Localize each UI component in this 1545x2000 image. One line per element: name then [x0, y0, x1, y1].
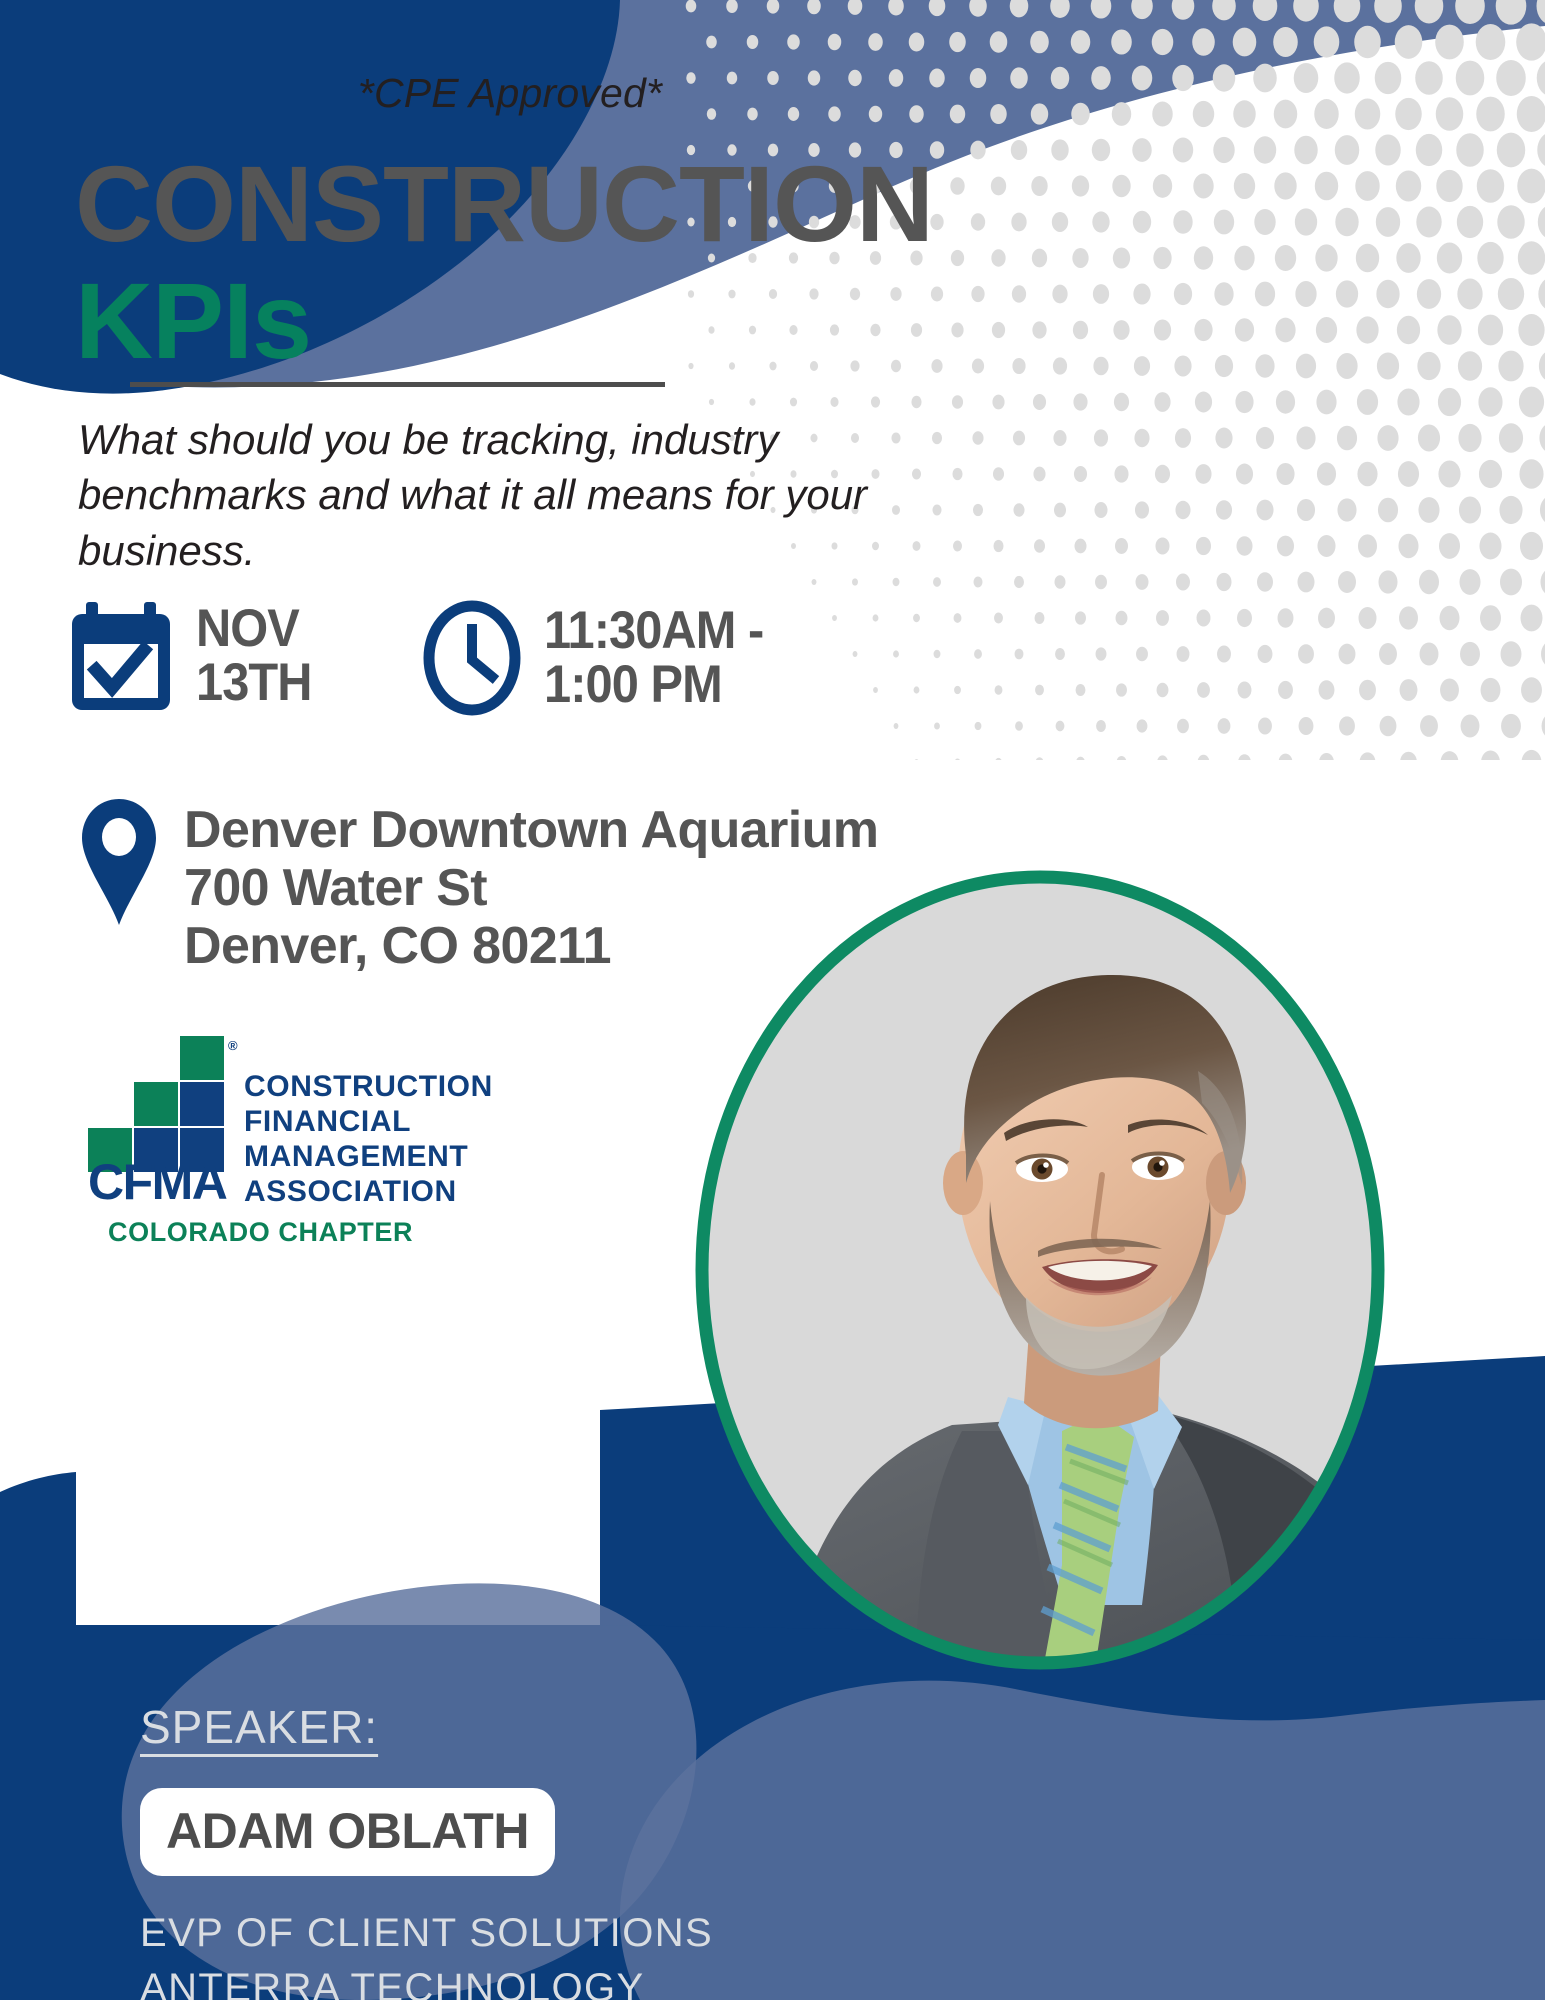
cfma-acronym: CFMA — [88, 1153, 226, 1211]
speaker-portrait — [690, 865, 1390, 1675]
cfma-name-lines: CONSTRUCTION FINANCIAL MANAGEMENT ASSOCI… — [244, 1069, 493, 1211]
speaker-label: SPEAKER: — [140, 1700, 760, 1754]
map-pin-icon — [78, 795, 160, 931]
logo-square-green-mid — [134, 1082, 178, 1126]
cfma-line-financial: FINANCIAL — [244, 1104, 493, 1139]
eye-left — [1016, 1156, 1068, 1183]
headline-block: CONSTRUCTION KPIs — [75, 150, 1075, 377]
cfma-line-management: MANAGEMENT — [244, 1139, 493, 1174]
cfma-line-association: ASSOCIATION — [244, 1174, 493, 1209]
clock-icon — [422, 600, 522, 716]
cfma-logo-panel: ® CFMA CONSTRUCTION FINANCIAL MANAGEMENT… — [60, 1012, 580, 1272]
date-time-row: NOV 13TH 11:30AM - 1:00 PM — [70, 600, 782, 716]
cfma-logo: ® CFMA CONSTRUCTION FINANCIAL MANAGEMENT… — [60, 1036, 493, 1211]
time-item: 11:30AM - 1:00 PM — [422, 600, 782, 716]
event-flyer: *CPE Approved* CONSTRUCTION KPIs What sh… — [0, 0, 1545, 2000]
cpe-approved-note: *CPE Approved* — [0, 70, 1020, 117]
title-divider — [130, 382, 665, 387]
cfma-staircase-mark: ® CFMA — [88, 1036, 230, 1211]
time-text: 11:30AM - 1:00 PM — [544, 604, 763, 712]
registered-trademark-symbol: ® — [228, 1038, 238, 1053]
page-title-line-1: CONSTRUCTION — [75, 150, 1075, 258]
speaker-block: SPEAKER: ADAM OBLATH EVP OF CLIENT SOLUT… — [140, 1700, 760, 2000]
speaker-name-pill: ADAM OBLATH — [140, 1788, 555, 1876]
calendar-check-icon — [70, 600, 174, 712]
eye-right — [1132, 1154, 1184, 1181]
speaker-name: ADAM OBLATH — [166, 1806, 529, 1856]
page-title-line-2: KPIs — [75, 258, 1075, 377]
date-text: NOV 13TH — [196, 602, 312, 710]
date-item: NOV 13TH — [70, 600, 322, 712]
cfma-line-construction: CONSTRUCTION — [244, 1069, 493, 1104]
cfma-chapter-label: COLORADO CHAPTER — [60, 1211, 493, 1248]
logo-square-navy-mid — [180, 1082, 224, 1126]
logo-square-green-top — [180, 1036, 224, 1080]
speaker-role: EVP OF CLIENT SOLUTIONS ANTERRA TECHNOLO… — [140, 1906, 760, 2000]
subtitle-text: What should you be tracking, industry be… — [78, 412, 908, 578]
